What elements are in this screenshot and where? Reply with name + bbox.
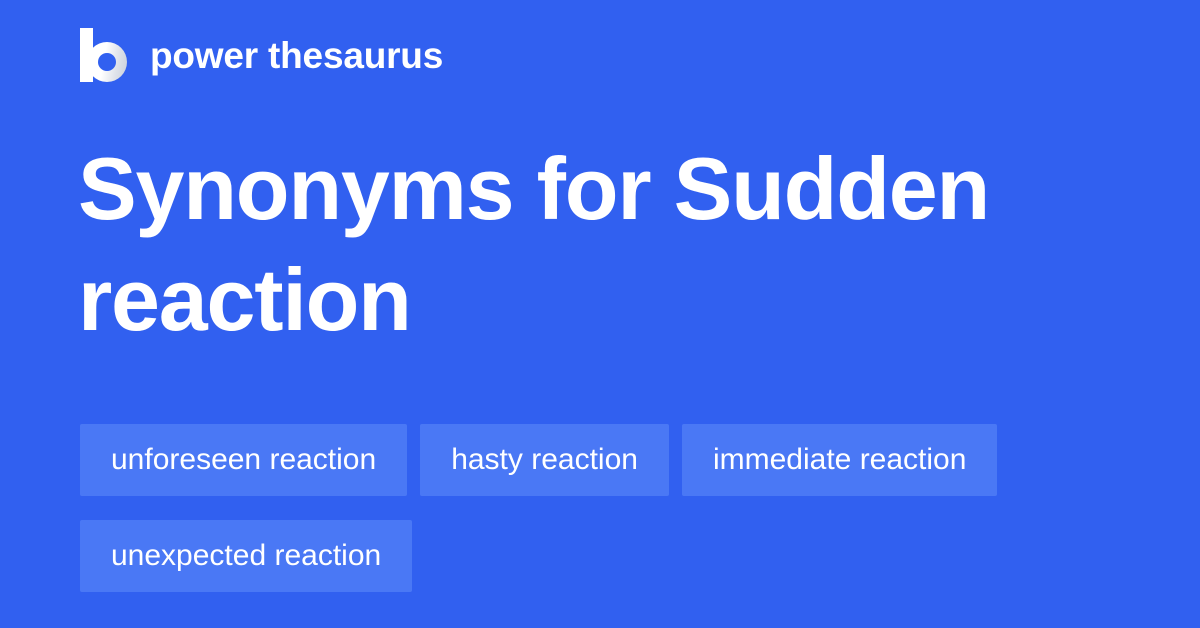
- brand-name: power thesaurus: [150, 37, 443, 74]
- share-card: power thesaurus Synonyms for Sudden reac…: [0, 0, 1200, 628]
- synonym-chip[interactable]: hasty reaction: [420, 424, 669, 496]
- synonym-chip[interactable]: immediate reaction: [682, 424, 997, 496]
- synonym-list: unforeseen reaction hasty reaction immed…: [80, 424, 1120, 592]
- synonym-chip[interactable]: unforeseen reaction: [80, 424, 407, 496]
- synonym-chip[interactable]: unexpected reaction: [80, 520, 412, 592]
- logo-counter: [98, 53, 116, 71]
- power-thesaurus-b-logo-icon: [80, 28, 128, 82]
- brand-logo[interactable]: power thesaurus: [80, 28, 443, 82]
- page-title: Synonyms for Sudden reaction: [78, 134, 1018, 356]
